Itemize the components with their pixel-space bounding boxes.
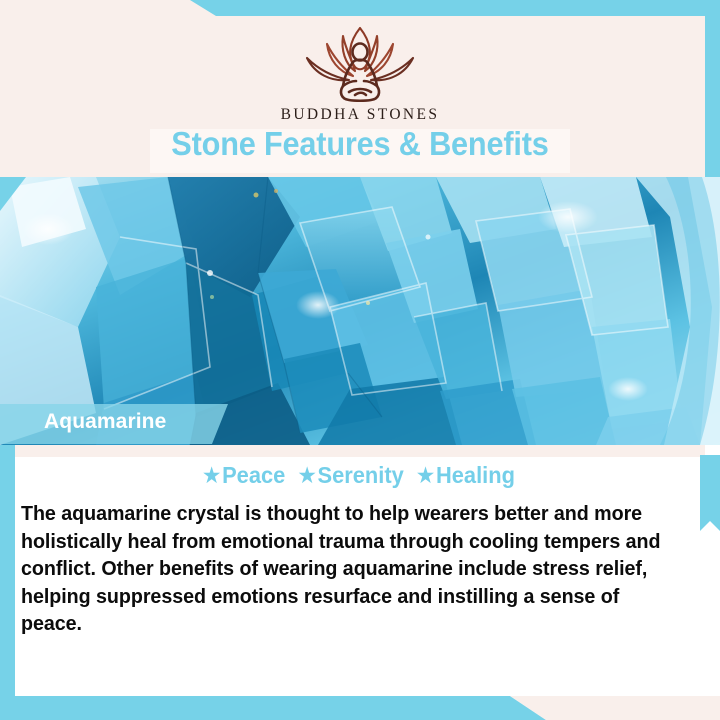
content-top-strip — [15, 445, 705, 457]
keyword-list: ★Peace★Serenity★Healing — [18, 462, 702, 489]
keyword-healing: Healing — [434, 462, 517, 488]
star-icon: ★ — [417, 465, 434, 487]
right-accent-tab — [700, 455, 720, 531]
description-text: The aquamarine crystal is thought to hel… — [21, 501, 669, 639]
footer-accent-bar — [0, 696, 546, 720]
page-title: Stone Features & Benefits — [25, 125, 695, 163]
keyword-serenity: Serenity — [316, 462, 406, 488]
stone-features-infographic: BUDDHA STONES Stone Features & Benefits — [0, 0, 720, 720]
left-accent-rail — [0, 445, 15, 696]
keyword-peace: Peace — [220, 462, 287, 488]
footer-cream-wedge — [510, 696, 720, 720]
star-icon: ★ — [299, 465, 316, 487]
stone-name: Aquamarine — [44, 410, 166, 434]
star-icon: ★ — [203, 465, 220, 487]
